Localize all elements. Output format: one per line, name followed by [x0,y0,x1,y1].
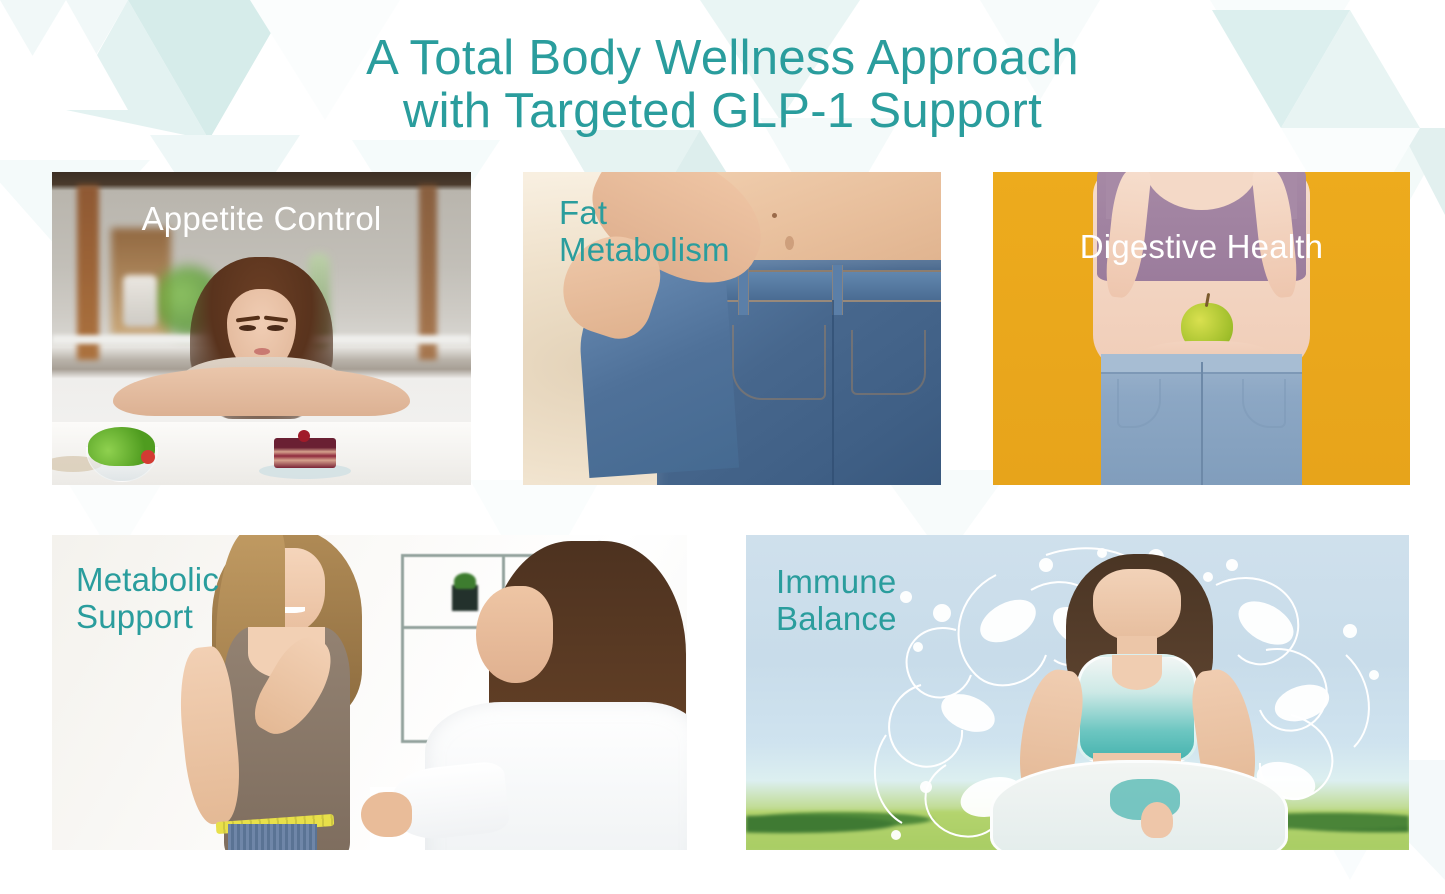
card-label-immune-balance: Immune Balance [776,563,897,637]
card-appetite-control[interactable]: Appetite Control [52,172,471,485]
photo-digestive-health [993,172,1410,485]
wellness-infographic-page: A Total Body Wellness Approach with Targ… [0,0,1445,894]
card-label-metabolic-support: Metabolic Support [76,561,219,635]
card-label-appetite-control: Appetite Control [52,200,471,237]
page-title-line-2: with Targeted GLP-1 Support [0,85,1445,138]
page-title-line-1: A Total Body Wellness Approach [0,32,1445,85]
page-title: A Total Body Wellness Approach with Targ… [0,32,1445,138]
card-immune-balance[interactable]: Immune Balance [746,535,1409,850]
card-digestive-health[interactable]: Digestive Health [993,172,1410,485]
card-metabolic-support[interactable]: Metabolic Support [52,535,687,850]
card-fat-metabolism[interactable]: Fat Metabolism [523,172,941,485]
card-label-fat-metabolism: Fat Metabolism [559,194,730,268]
card-label-digestive-health: Digestive Health [993,228,1410,265]
